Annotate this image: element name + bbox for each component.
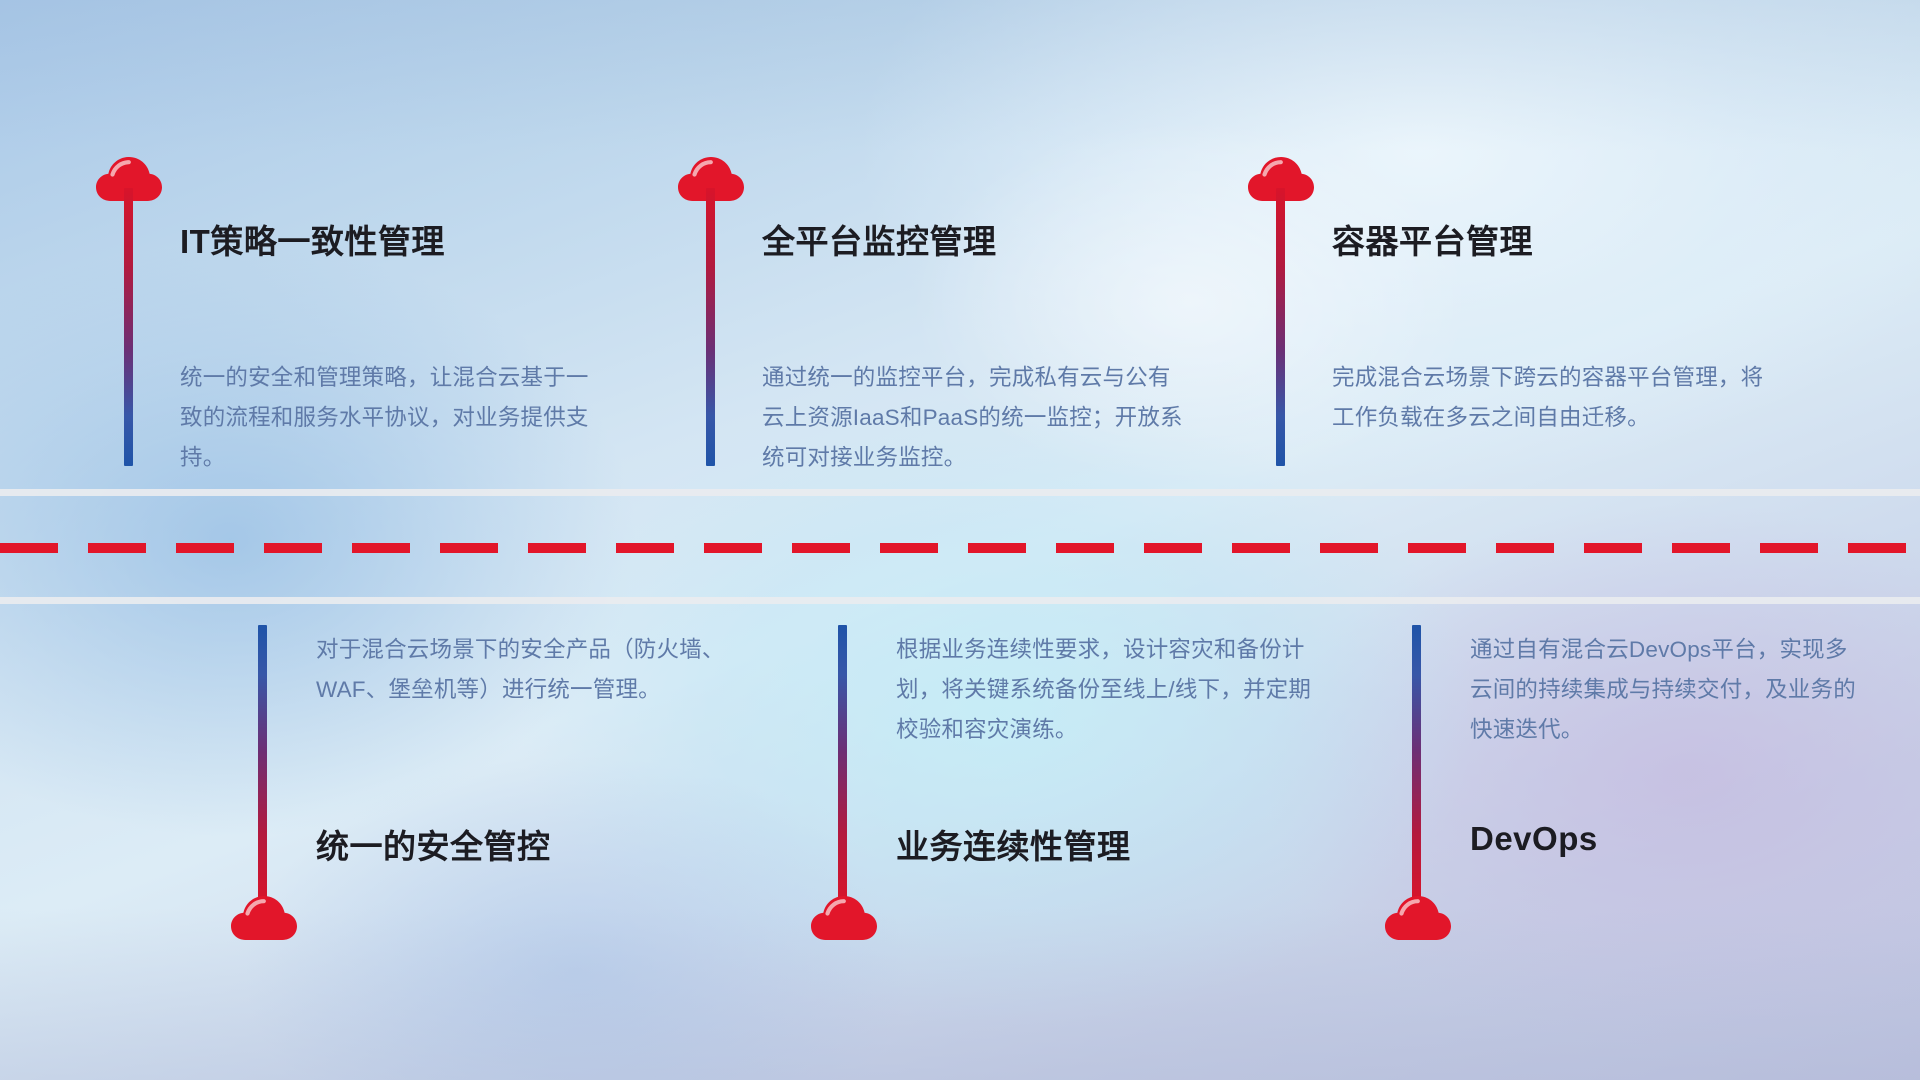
top-column-3-title: 容器平台管理	[1332, 215, 1533, 263]
top-column-3-body: 完成混合云场景下跨云的容器平台管理，将工作负载在多云之间自由迁移。	[1332, 358, 1764, 438]
stem-connector	[124, 188, 133, 466]
divider-line-upper	[0, 489, 1920, 496]
stem-connector	[706, 188, 715, 466]
bottom-column-3-title: DevOps	[1470, 820, 1598, 858]
stem-connector	[1412, 625, 1421, 903]
cloud-icon	[231, 896, 297, 942]
bottom-column-2-title: 业务连续性管理	[896, 820, 1131, 868]
top-column-1-body: 统一的安全和管理策略，让混合云基于一致的流程和服务水平协议，对业务提供支持。	[180, 358, 596, 478]
dashed-separator	[0, 543, 1920, 553]
stem-connector	[1276, 188, 1285, 466]
cloud-icon	[1385, 896, 1451, 942]
bottom-column-1-title: 统一的安全管控	[316, 820, 551, 868]
bottom-column-2-body: 根据业务连续性要求，设计容灾和备份计划，将关键系统备份至线上/线下，并定期校验和…	[896, 630, 1316, 750]
infographic-canvas: IT策略一致性管理 统一的安全和管理策略，让混合云基于一致的流程和服务水平协议，…	[0, 0, 1920, 1080]
top-column-1-title: IT策略一致性管理	[180, 215, 445, 263]
stem-connector	[258, 625, 267, 903]
stem-connector	[838, 625, 847, 903]
bottom-column-3-body: 通过自有混合云DevOps平台，实现多云间的持续集成与持续交付，及业务的快速迭代…	[1470, 630, 1870, 750]
top-column-2-title: 全平台监控管理	[762, 215, 997, 263]
bottom-column-1-body: 对于混合云场景下的安全产品（防火墙、WAF、堡垒机等）进行统一管理。	[316, 630, 736, 710]
top-column-2-body: 通过统一的监控平台，完成私有云与公有云上资源IaaS和PaaS的统一监控；开放系…	[762, 358, 1192, 478]
cloud-icon	[811, 896, 877, 942]
divider-line-lower	[0, 597, 1920, 604]
